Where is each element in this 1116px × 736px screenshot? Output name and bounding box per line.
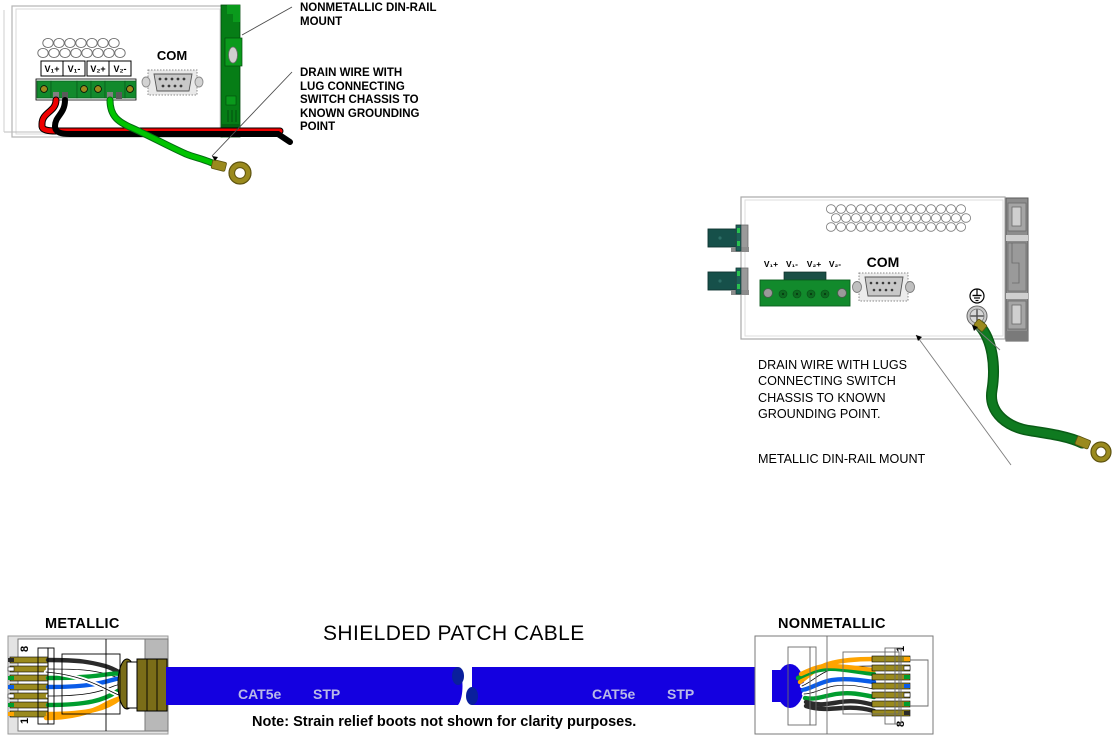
nonmetallic-rj45-connector: 1 8 <box>755 636 933 734</box>
metallic-connector-label: METALLIC <box>45 616 120 632</box>
pin-number-8: 8 <box>19 646 31 652</box>
db9-com-port <box>853 273 915 301</box>
nonmetallic-connector-label: NONMETALLIC <box>778 616 886 632</box>
metallic-rj45-connector: 8 1 <box>8 636 168 734</box>
terminal-label-v2n: V₂- <box>829 259 841 269</box>
pin-contacts <box>8 657 48 717</box>
metallic-shield-boot <box>118 659 167 711</box>
power-terminal-block <box>36 79 136 100</box>
drain-wire-callout: DRAIN WIRE WITH LUG CONNECTING SWITCH CH… <box>300 67 419 135</box>
terminal-label-v1p: V₁+ <box>45 64 60 74</box>
terminal-label-v1n: V₁- <box>786 259 798 269</box>
db9-com-port <box>142 70 203 95</box>
fiber-port-lower <box>708 268 749 295</box>
pin-number-1: 1 <box>19 718 31 724</box>
jacket-marking-left-stp: STP <box>313 686 340 702</box>
ring-lug <box>211 159 251 184</box>
ring-lug-ground <box>1075 436 1111 462</box>
terminal-label-v1p: V₁+ <box>764 259 778 269</box>
top-left-diagram: V₁+ V₁- V₂+ V₂- <box>0 0 470 190</box>
top-right-diagram: V₁+ V₁- V₂+ V₂- C <box>700 185 1116 485</box>
drain-wire <box>980 326 1082 443</box>
jacket-marking-left-cat5e: CAT5e <box>238 686 281 702</box>
jacket-marking-right-cat5e: CAT5e <box>592 686 635 702</box>
patch-cable-title: SHIELDED PATCH CABLE <box>323 622 585 646</box>
earth-ground-symbol <box>970 289 984 303</box>
pin-contacts <box>872 656 910 716</box>
patch-cable-diagram: METALLIC NONMETALLIC SHIELDED PATCH CABL… <box>0 612 1116 736</box>
metallic-switch-illustration: V₁+ V₁- V₂+ V₂- C <box>700 185 1116 485</box>
diagram-canvas: V₁+ V₁- V₂+ V₂- <box>0 0 1116 736</box>
metallic-din-rail-mount <box>1006 198 1028 341</box>
drain-wire-callout: DRAIN WIRE WITH LUGS CONNECTING SWITCH C… <box>758 357 907 423</box>
patch-cable-note: Note: Strain relief boots not shown for … <box>252 714 636 730</box>
com-port-label: COM <box>867 254 900 270</box>
terminal-label-v2p: V₂+ <box>90 64 105 74</box>
terminal-label-v1n: V₁- <box>68 64 81 74</box>
nonmetallic-din-rail-mount <box>221 5 242 137</box>
nonmetallic-din-rail-mount-callout: NONMETALLIC DIN-RAIL MOUNT <box>300 2 437 29</box>
com-port-label: COM <box>157 48 187 63</box>
terminal-label-v2p: V₂+ <box>807 259 821 269</box>
terminal-label-v2n: V₂- <box>114 64 127 74</box>
jacket-marking-right-stp: STP <box>667 686 694 702</box>
fiber-port-upper <box>708 225 749 252</box>
metallic-din-rail-mount-callout: METALLIC DIN-RAIL MOUNT <box>758 451 925 467</box>
